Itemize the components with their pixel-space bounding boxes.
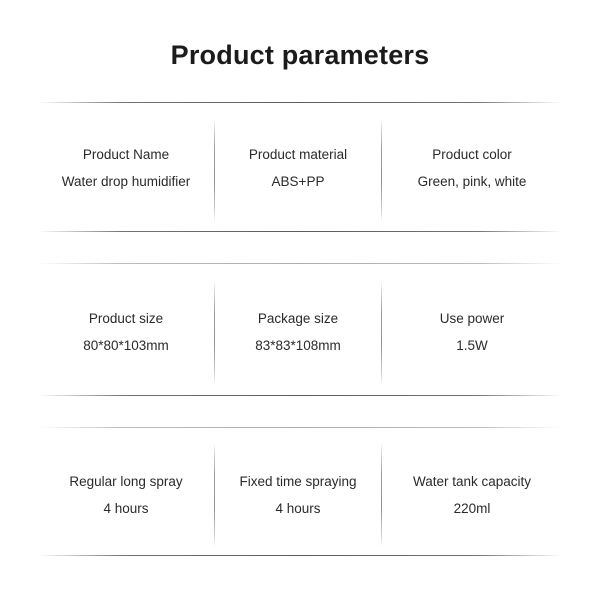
parameter-value: 220ml <box>382 500 562 518</box>
divider-row2-top <box>38 263 562 264</box>
parameter-label: Water tank capacity <box>382 473 562 491</box>
divider-row2-bottom <box>38 395 562 396</box>
divider-top <box>38 102 562 103</box>
divider-row3-top <box>38 427 562 428</box>
parameter-label: Product size <box>38 310 214 328</box>
parameter-value: 1.5W <box>382 337 562 355</box>
parameter-cell: Water tank capacity 220ml <box>382 473 562 518</box>
parameter-label: Product color <box>382 146 562 164</box>
parameter-cell: Fixed time spraying 4 hours <box>215 473 381 518</box>
parameter-label: Regular long spray <box>38 473 214 491</box>
parameter-value: Water drop humidifier <box>38 173 214 191</box>
parameter-cell: Package size 83*83*108mm <box>215 310 381 355</box>
parameter-cell: Product size 80*80*103mm <box>38 310 214 355</box>
parameter-cell: Use power 1.5W <box>382 310 562 355</box>
parameter-cell: Product Name Water drop humidifier <box>38 146 214 191</box>
parameter-label: Package size <box>215 310 381 328</box>
parameter-cell: Product color Green, pink, white <box>382 146 562 191</box>
parameter-value: ABS+PP <box>215 173 381 191</box>
parameter-cell: Product material ABS+PP <box>215 146 381 191</box>
parameter-value: 80*80*103mm <box>38 337 214 355</box>
parameter-label: Use power <box>382 310 562 328</box>
parameter-value: 4 hours <box>215 500 381 518</box>
parameter-value: Green, pink, white <box>382 173 562 191</box>
divider-bottom <box>38 555 562 556</box>
page-title: Product parameters <box>0 38 600 72</box>
parameter-value: 4 hours <box>38 500 214 518</box>
divider-row1-bottom <box>38 231 562 232</box>
parameter-label: Fixed time spraying <box>215 473 381 491</box>
parameter-cell: Regular long spray 4 hours <box>38 473 214 518</box>
parameter-label: Product Name <box>38 146 214 164</box>
parameter-value: 83*83*108mm <box>215 337 381 355</box>
product-parameters-page: Product parameters Product Name Water dr… <box>0 0 600 600</box>
parameter-label: Product material <box>215 146 381 164</box>
